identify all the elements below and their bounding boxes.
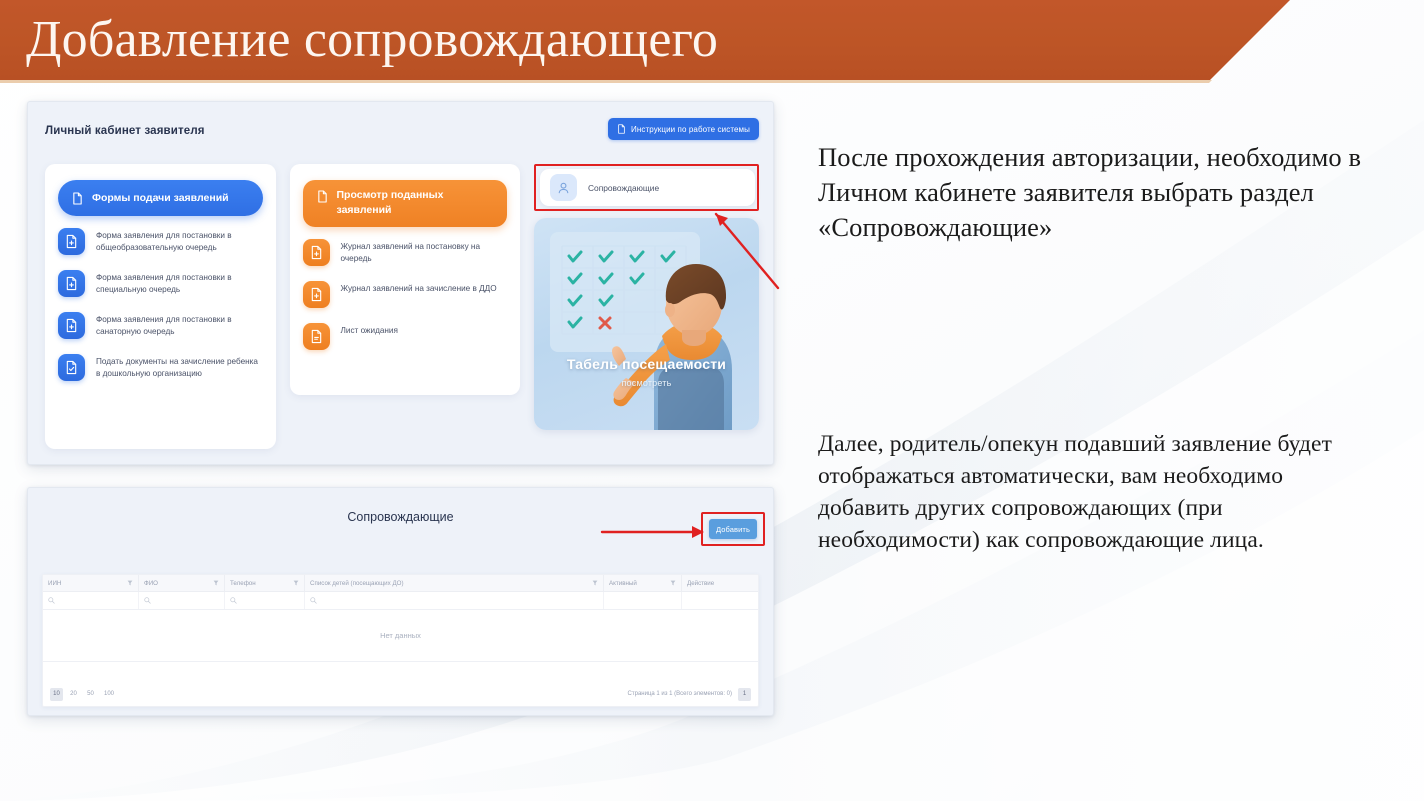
illustration-title: Табель посещаемости: [534, 356, 759, 372]
list-item-label: Журнал заявлений на постановку на очеред…: [341, 239, 508, 265]
search-icon: [144, 597, 151, 604]
table-column-header[interactable]: ФИО: [139, 575, 225, 591]
list-item-label: Подать документы на зачисление ребенка в…: [96, 354, 263, 380]
search-icon: [310, 597, 317, 604]
pagination-info: Страница 1 из 1 (Всего элементов: 0): [628, 691, 732, 697]
annotation-arrow-add-button: [600, 520, 710, 544]
review-heading-label: Просмотр поданных заявлений: [337, 188, 494, 218]
list-item-label: Форма заявления для постановки в специал…: [96, 270, 263, 296]
column-label: Активный: [609, 580, 637, 587]
illustration-subtitle: посмотреть: [534, 378, 759, 388]
highlight-box-add-button: [701, 512, 765, 546]
column-application-forms: Формы подачи заявлений Форма заявления д…: [45, 164, 276, 449]
annotation-paragraph-1: После прохождения авторизации, необходим…: [818, 140, 1363, 245]
user-icon: [550, 174, 577, 201]
filter-cell[interactable]: [604, 592, 682, 609]
forms-menu: Форма заявления для постановки в общеобр…: [58, 228, 263, 381]
table-column-header[interactable]: Телефон: [225, 575, 305, 591]
table-header-row: ИИН ФИО Телефон Список детей (посещающих…: [43, 575, 758, 592]
column-submitted-applications: Просмотр поданных заявлений Журнал заявл…: [290, 164, 521, 395]
app-title: Личный кабинет заявителя: [45, 125, 205, 137]
list-item[interactable]: Подать документы на зачисление ребенка в…: [58, 354, 263, 381]
table-column-header[interactable]: Список детей (посещающих ДО): [305, 575, 604, 591]
annotation-arrow-companions: [710, 208, 782, 292]
document-check-icon: [58, 354, 85, 381]
page-title: Добавление сопровождающего: [26, 6, 718, 74]
column-companions: Сопровождающие: [534, 164, 759, 449]
list-item-label: Лист ожидания: [341, 323, 398, 337]
pagination-right: Страница 1 из 1 (Всего элементов: 0) 1: [628, 688, 751, 701]
filter-icon[interactable]: [213, 580, 219, 586]
list-item[interactable]: Журнал заявлений на зачисление в ДДО: [303, 281, 508, 308]
cabinet-columns: Формы подачи заявлений Форма заявления д…: [45, 164, 759, 449]
page-size-10[interactable]: 10: [50, 688, 63, 701]
filter-icon[interactable]: [293, 580, 299, 586]
screenshot-personal-cabinet: Личный кабинет заявителя Инструкции по р…: [27, 101, 774, 465]
pagination-page-1[interactable]: 1: [738, 688, 751, 701]
app-header: Личный кабинет заявителя Инструкции по р…: [28, 102, 773, 164]
filter-icon[interactable]: [670, 580, 676, 586]
page-size-100[interactable]: 100: [101, 688, 117, 701]
list-item-label: Журнал заявлений на зачисление в ДДО: [341, 281, 497, 295]
search-icon: [48, 597, 55, 604]
column-label: Действие: [687, 580, 714, 587]
list-item-label: Форма заявления для постановки в санатор…: [96, 312, 263, 338]
companions-table: ИИН ФИО Телефон Список детей (посещающих…: [42, 574, 759, 707]
search-input[interactable]: [305, 592, 604, 609]
empty-state: Нет данных: [43, 610, 758, 662]
review-menu: Журнал заявлений на постановку на очеред…: [303, 239, 508, 350]
document-icon: [617, 124, 626, 134]
page-size-selector: 10 20 50 100: [50, 688, 117, 701]
annotation-paragraph-2: Далее, родитель/опекун подавший заявлени…: [818, 428, 1363, 556]
document-icon: [317, 188, 328, 203]
column-label: ИИН: [48, 580, 61, 587]
document-plus-icon: [58, 312, 85, 339]
filter-cell: [682, 592, 758, 609]
document-plus-icon: [58, 228, 85, 255]
column-label: Список детей (посещающих ДО): [310, 580, 404, 587]
list-item[interactable]: Журнал заявлений на постановку на очеред…: [303, 239, 508, 266]
table-column-header[interactable]: Активный: [604, 575, 682, 591]
document-icon: [303, 323, 330, 350]
banner-accent-line: [0, 80, 1212, 83]
table-column-header: Действие: [682, 575, 758, 591]
table-footer: 10 20 50 100 Страница 1 из 1 (Всего элем…: [43, 682, 758, 706]
forms-heading-pill[interactable]: Формы подачи заявлений: [58, 180, 263, 216]
column-label: Телефон: [230, 580, 256, 587]
page-size-50[interactable]: 50: [84, 688, 97, 701]
filter-icon[interactable]: [127, 580, 133, 586]
table-filter-row: [43, 592, 758, 610]
search-input[interactable]: [225, 592, 305, 609]
instructions-button[interactable]: Инструкции по работе системы: [608, 118, 759, 140]
list-item[interactable]: Лист ожидания: [303, 323, 508, 350]
sidebar-item-companions[interactable]: Сопровождающие: [540, 169, 755, 206]
column-label: ФИО: [144, 580, 158, 587]
sidebar-item-companions-label: Сопровождающие: [588, 183, 659, 193]
search-input[interactable]: [139, 592, 225, 609]
table-column-header[interactable]: ИИН: [43, 575, 139, 591]
review-heading-pill[interactable]: Просмотр поданных заявлений: [303, 180, 508, 227]
forms-heading-label: Формы подачи заявлений: [92, 192, 229, 204]
document-plus-icon: [303, 239, 330, 266]
document-icon: [72, 192, 83, 205]
list-item-label: Форма заявления для постановки в общеобр…: [96, 228, 263, 254]
document-plus-icon: [303, 281, 330, 308]
page-size-20[interactable]: 20: [67, 688, 80, 701]
list-item[interactable]: Форма заявления для постановки в специал…: [58, 270, 263, 297]
slide-title-banner: Добавление сопровождающего: [0, 0, 1290, 80]
filter-icon[interactable]: [592, 580, 598, 586]
document-plus-icon: [58, 270, 85, 297]
search-icon: [230, 597, 237, 604]
search-input[interactable]: [43, 592, 139, 609]
list-item[interactable]: Форма заявления для постановки в санатор…: [58, 312, 263, 339]
list-item[interactable]: Форма заявления для постановки в общеобр…: [58, 228, 263, 255]
instructions-button-label: Инструкции по работе системы: [631, 125, 750, 134]
